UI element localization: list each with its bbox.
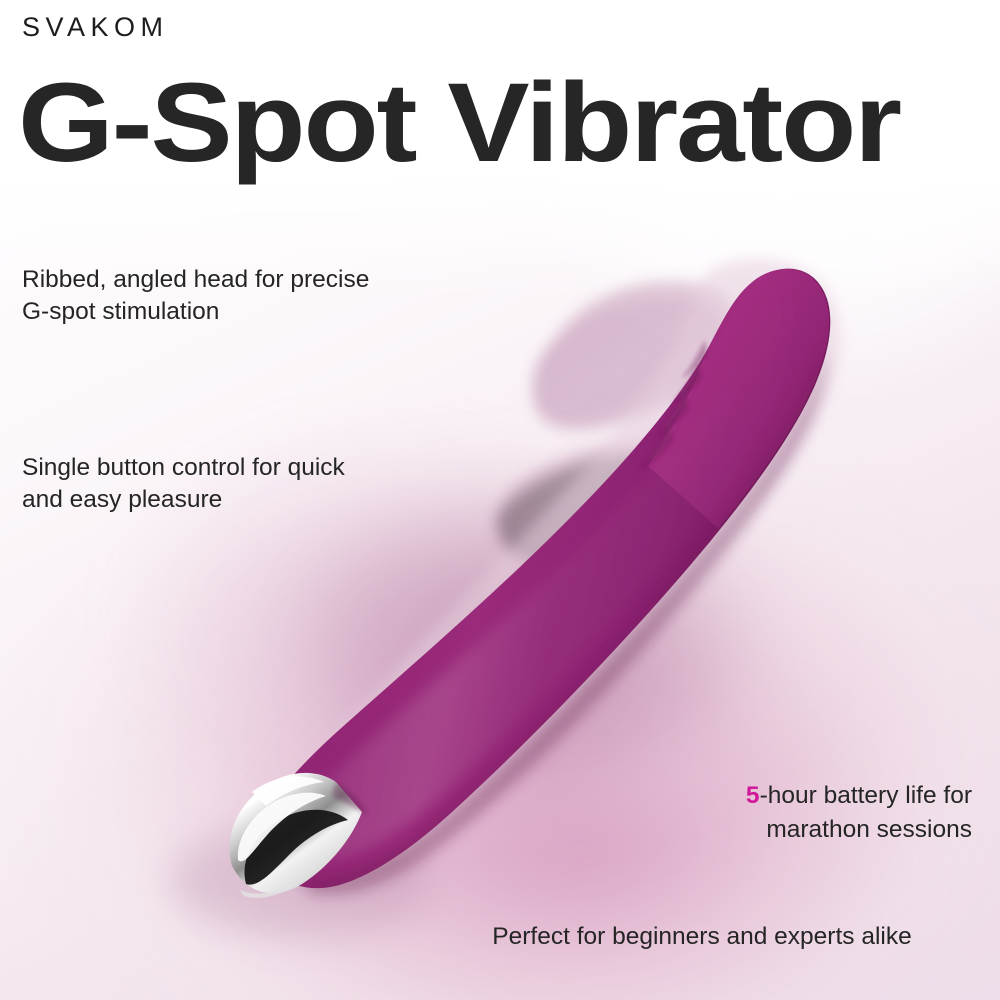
feature-beginners-experts: Perfect for beginners and experts alike — [422, 920, 982, 954]
product-poster: SVAKOM G-Spot Vibrator Ribbed, angled he… — [0, 0, 1000, 1000]
feature-ribbed-head: Ribbed, angled head for precise G-spot s… — [22, 264, 369, 328]
brand-wordmark: SVAKOM — [22, 14, 169, 41]
page-title: G-Spot Vibrator — [18, 66, 900, 180]
feature-single-button: Single button control for quick and easy… — [22, 452, 345, 516]
battery-life-text: -hour battery life for marathon sessions — [760, 782, 972, 843]
feature-battery-life: 5-hour battery life for marathon session… — [542, 779, 972, 847]
battery-hours-number: 5 — [746, 782, 760, 809]
